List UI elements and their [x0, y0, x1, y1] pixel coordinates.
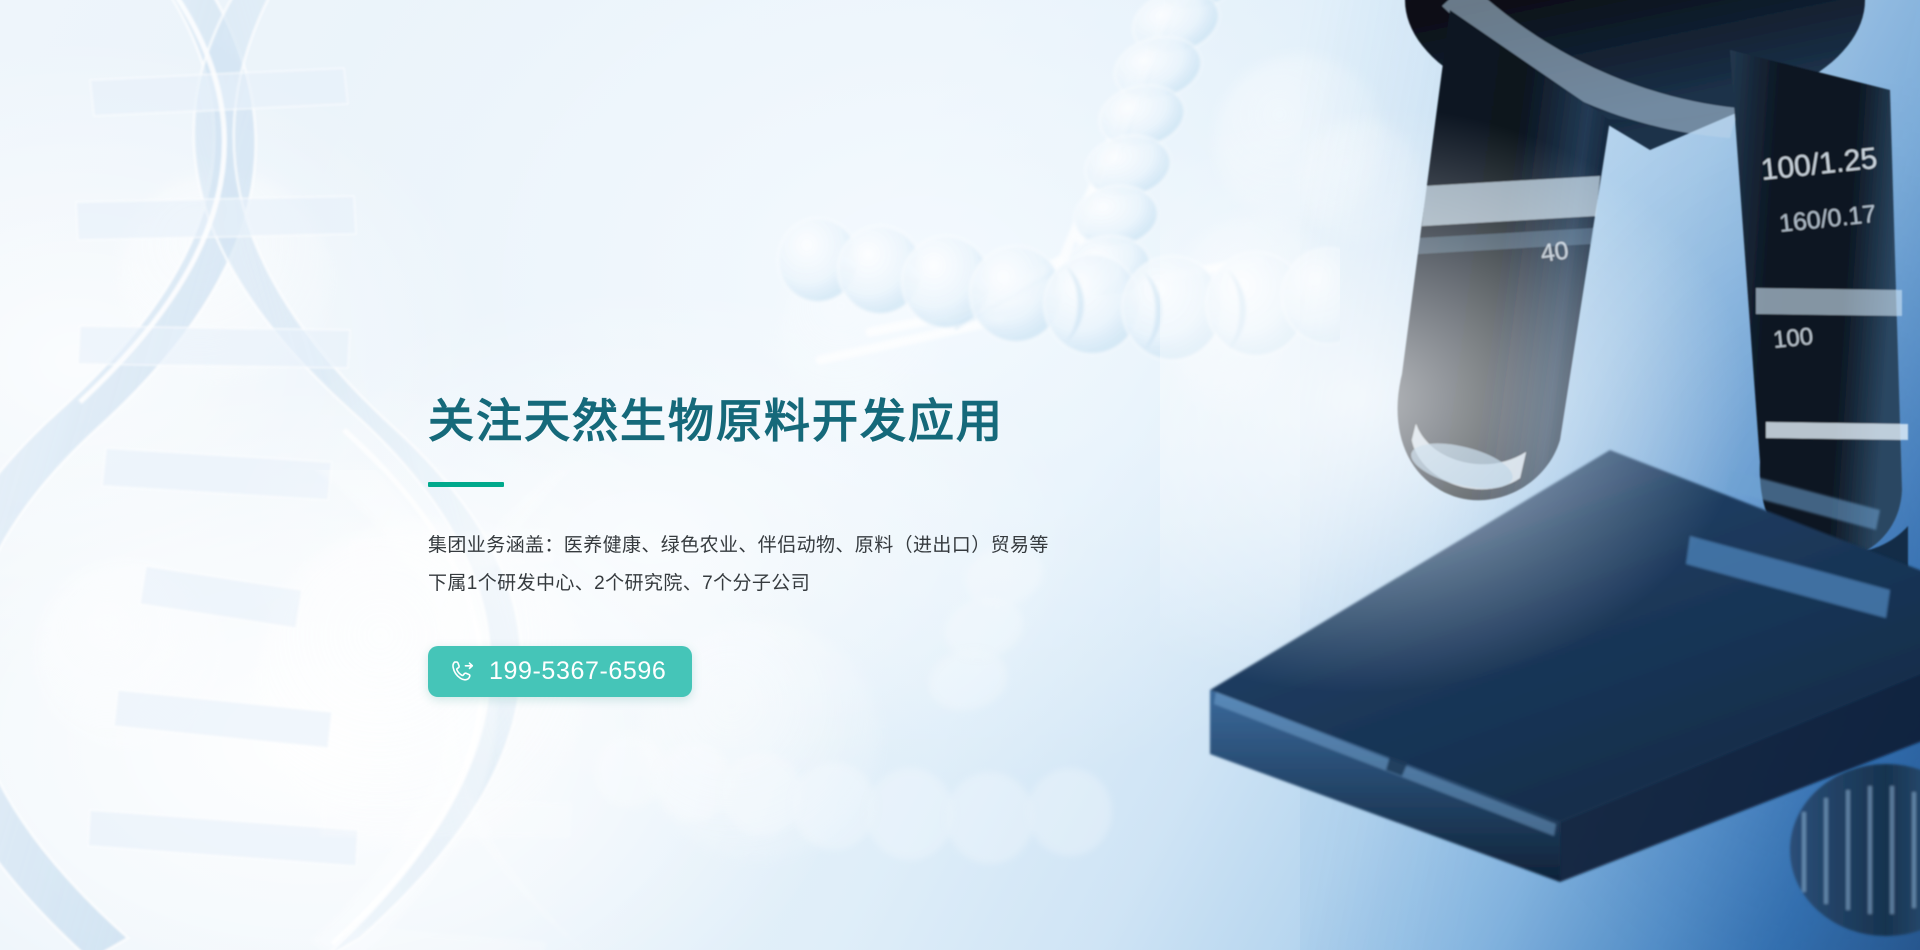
phone-forward-icon: [449, 658, 476, 685]
bokeh-light-circle: [780, 250, 940, 410]
bokeh-light-circle: [1215, 55, 1385, 225]
hero-description: 集团业务涵盖：医养健康、绿色农业、伴侣动物、原料（进出口）贸易等 下属1个研发中…: [428, 527, 1268, 605]
svg-text:40: 40: [1539, 236, 1570, 268]
bokeh-light-circle: [1185, 215, 1325, 355]
phone-cta-button[interactable]: 199-5367-6596: [428, 646, 692, 697]
svg-text:100: 100: [1772, 323, 1815, 354]
svg-text:100/1.25: 100/1.25: [1759, 142, 1879, 187]
hero-headline: 关注天然生物原料开发应用: [428, 396, 1268, 448]
hero-banner: 40 100/1.25 160/0.17 100: [0, 0, 1920, 950]
hero-copy-block: 关注天然生物原料开发应用 集团业务涵盖：医养健康、绿色农业、伴侣动物、原料（进出…: [428, 396, 1268, 697]
bokeh-light-circle: [1175, 300, 1285, 410]
hero-description-line-2: 下属1个研发中心、2个研究院、7个分子公司: [428, 565, 1268, 604]
bokeh-light-circle: [35, 560, 225, 750]
headline-divider: [428, 482, 504, 487]
hero-description-line-1: 集团业务涵盖：医养健康、绿色农业、伴侣动物、原料（进出口）贸易等: [428, 527, 1268, 566]
blue-light-gradient: [1300, 0, 1920, 950]
bokeh-light-circle: [1300, 120, 1420, 240]
svg-text:160/0.17: 160/0.17: [1778, 200, 1878, 238]
phone-number-label: 199-5367-6596: [489, 659, 666, 684]
bokeh-light-circle: [120, 170, 330, 380]
right-haze: [1160, 0, 1920, 950]
